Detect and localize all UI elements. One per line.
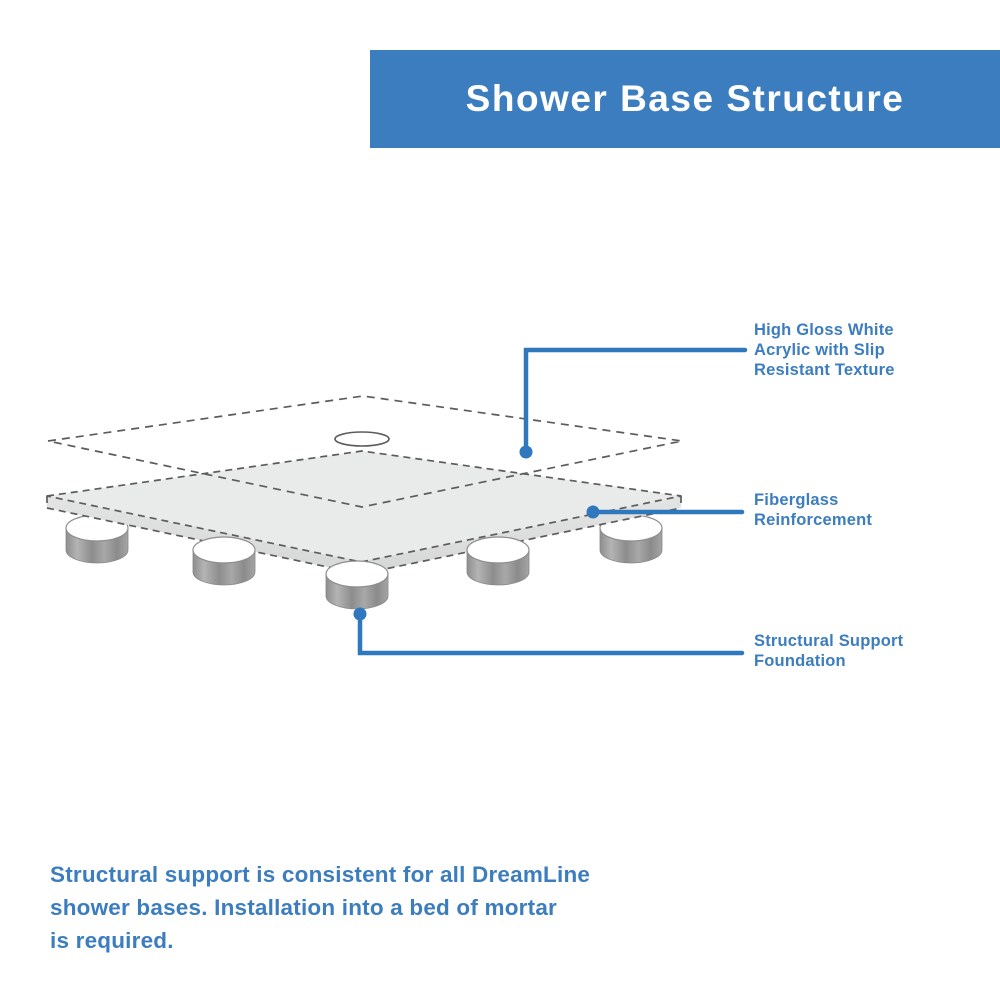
drain-opening xyxy=(335,432,389,446)
diagram-canvas: Shower Base Structure High Gloss White A… xyxy=(0,0,1000,1000)
support-ring xyxy=(326,517,388,565)
callout-acrylic-line-1: High Gloss White xyxy=(754,320,895,340)
footer-line-3: is required. xyxy=(50,924,690,957)
callout-foundation-line-1: Structural Support xyxy=(754,631,903,651)
support-rings-group xyxy=(66,492,662,565)
leader-line-fiberglass xyxy=(587,506,743,519)
footer-note: Structural support is consistent for all… xyxy=(50,858,690,957)
footer-line-1: Structural support is consistent for all… xyxy=(50,858,690,891)
support-ring xyxy=(191,492,253,540)
callout-fiberglass-line-1: Fiberglass xyxy=(754,490,872,510)
callout-foundation-line-2: Foundation xyxy=(754,651,903,671)
support-ring xyxy=(193,537,255,585)
support-ring xyxy=(467,537,529,585)
leader-line-acrylic xyxy=(520,350,746,459)
fiberglass-slab xyxy=(47,451,681,574)
support-ring xyxy=(469,492,531,540)
callout-label-foundation: Structural Support Foundation xyxy=(754,631,903,671)
support-ring xyxy=(600,515,662,563)
support-ring-callout-target xyxy=(326,561,388,609)
callout-label-fiberglass: Fiberglass Reinforcement xyxy=(754,490,872,530)
support-rings-front-group xyxy=(193,537,529,609)
callout-acrylic-line-3: Resistant Texture xyxy=(754,360,895,380)
leader-lines xyxy=(354,350,746,653)
leader-line-foundation xyxy=(354,608,743,654)
page-title: Shower Base Structure xyxy=(466,78,905,120)
callout-label-acrylic: High Gloss White Acrylic with Slip Resis… xyxy=(754,320,895,380)
acrylic-panel xyxy=(48,396,682,507)
support-ring xyxy=(66,515,128,563)
callout-acrylic-line-2: Acrylic with Slip xyxy=(754,340,895,360)
callout-fiberglass-line-2: Reinforcement xyxy=(754,510,872,530)
title-banner: Shower Base Structure xyxy=(370,50,1000,148)
footer-line-2: shower bases. Installation into a bed of… xyxy=(50,891,690,924)
